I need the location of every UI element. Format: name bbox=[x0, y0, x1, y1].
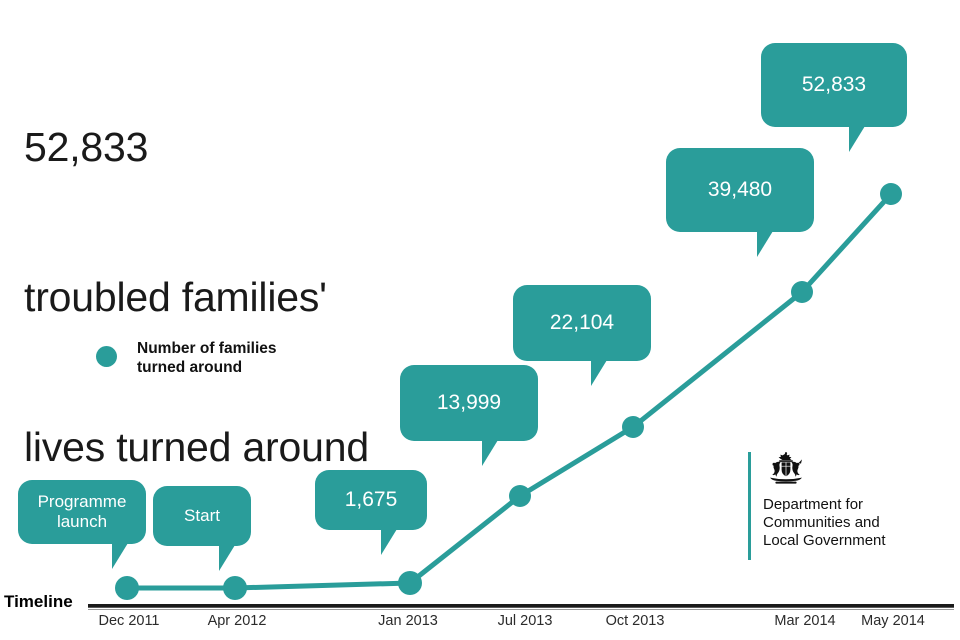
data-point-dec-2011[interactable] bbox=[115, 576, 139, 600]
logo-rule bbox=[748, 452, 751, 560]
callout-programme-launch-text: Programme launch bbox=[38, 492, 127, 532]
data-point-apr-2012[interactable] bbox=[223, 576, 247, 600]
callout-22104-text: 22,104 bbox=[550, 311, 614, 336]
axis-tick-may-2014: May 2014 bbox=[861, 613, 925, 629]
callout-tail-icon bbox=[112, 543, 128, 569]
axis-tick-mar-2014: Mar 2014 bbox=[774, 613, 835, 629]
callout-start-text: Start bbox=[184, 506, 220, 526]
callout-tail-icon bbox=[757, 231, 773, 257]
infographic-canvas: 52,833 troubled families' lives turned a… bbox=[0, 0, 960, 640]
chart-legend-label: Number of families turned around bbox=[137, 339, 277, 377]
axis-title-timeline: Timeline bbox=[4, 592, 73, 612]
callout-13999[interactable]: 13,999 bbox=[400, 365, 538, 441]
data-point-jul-2013[interactable] bbox=[509, 485, 531, 507]
callout-39480[interactable]: 39,480 bbox=[666, 148, 814, 232]
logo-department-name: Department for Communities and Local Gov… bbox=[763, 496, 886, 550]
axis-tick-jan-2013: Jan 2013 bbox=[378, 613, 438, 629]
chart-legend: Number of families turned around bbox=[96, 339, 277, 377]
axis-tick-jul-2013: Jul 2013 bbox=[498, 613, 553, 629]
callout-tail-icon bbox=[219, 545, 235, 571]
data-point-oct-2013[interactable] bbox=[622, 416, 644, 438]
royal-coat-of-arms-icon bbox=[763, 452, 809, 486]
callout-tail-icon bbox=[482, 440, 498, 466]
dclg-logo: Department for Communities and Local Gov… bbox=[748, 452, 948, 560]
callout-tail-icon bbox=[381, 529, 397, 555]
callout-13999-text: 13,999 bbox=[437, 391, 501, 416]
axis-baseline bbox=[88, 604, 954, 608]
data-point-jan-2013[interactable] bbox=[398, 571, 422, 595]
data-point-mar-2014[interactable] bbox=[791, 281, 813, 303]
callout-start[interactable]: Start bbox=[153, 486, 251, 546]
circle-marker-icon bbox=[96, 346, 117, 367]
axis-baseline-shadow bbox=[88, 609, 954, 610]
callout-1675-text: 1,675 bbox=[345, 488, 398, 513]
callout-52833[interactable]: 52,833 bbox=[761, 43, 907, 127]
axis-tick-dec-2011: Dec 2011 bbox=[99, 613, 160, 629]
axis-tick-apr-2012: Apr 2012 bbox=[208, 613, 267, 629]
callout-52833-text: 52,833 bbox=[802, 73, 866, 98]
callout-39480-text: 39,480 bbox=[708, 178, 772, 203]
data-point-may-2014[interactable] bbox=[880, 183, 902, 205]
callout-tail-icon bbox=[591, 360, 607, 386]
callout-programme-launch[interactable]: Programme launch bbox=[18, 480, 146, 544]
axis-tick-oct-2013: Oct 2013 bbox=[606, 613, 665, 629]
callout-1675[interactable]: 1,675 bbox=[315, 470, 427, 530]
callout-22104[interactable]: 22,104 bbox=[513, 285, 651, 361]
callout-tail-icon bbox=[849, 126, 865, 152]
